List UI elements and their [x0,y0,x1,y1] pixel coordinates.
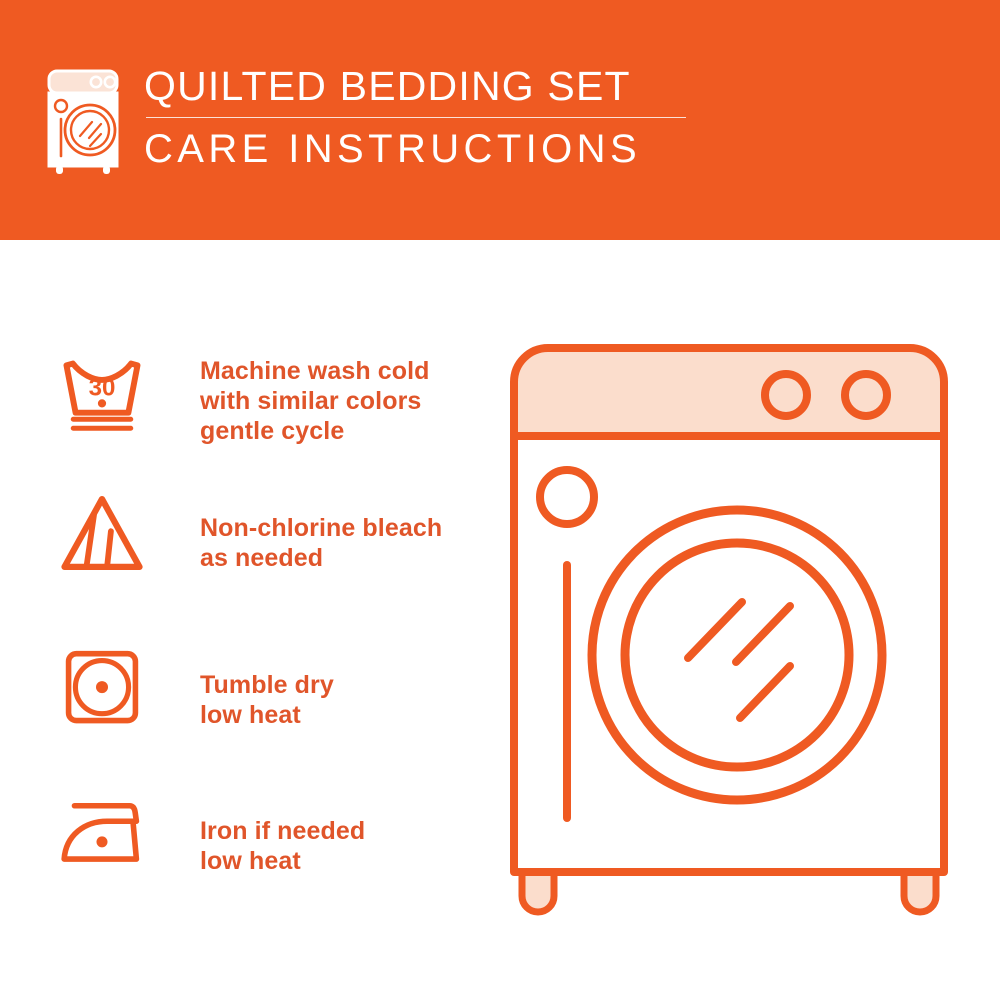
wash-temperature-label: 30 [89,374,116,401]
care-item-bleach: Non-chlorine bleach as needed [46,488,486,578]
bleach-triangle-symbol [46,488,158,578]
care-item-wash: 30 Machine wash cold with similar colors… [46,344,486,446]
care-item-bleach-text: Non-chlorine bleach as needed [200,513,442,573]
page-subtitle: CARE INSTRUCTIONS [144,127,686,171]
iron-symbol [46,792,158,878]
care-item-iron-text: Iron if needed low heat [200,816,365,876]
washing-machine-icon [44,66,122,176]
care-instruction-list: 30 Machine wash cold with similar colors… [0,240,490,1000]
care-item-iron: Iron if needed low heat [46,792,486,878]
care-item-tumble-dry: Tumble dry low heat [46,644,486,732]
washing-machine-illustration [470,320,1000,940]
header-title-block: QUILTED BEDDING SET CARE INSTRUCTIONS [144,62,686,171]
page-header: QUILTED BEDDING SET CARE INSTRUCTIONS [0,0,1000,240]
care-item-tumble-dry-text: Tumble dry low heat [200,670,334,730]
wash-tub-symbol: 30 [46,344,158,436]
tumble-dry-symbol [46,644,158,732]
page-title: QUILTED BEDDING SET [144,64,686,108]
care-item-wash-text: Machine wash cold with similar colors ge… [200,356,430,446]
title-divider [146,117,686,118]
care-instructions-page: QUILTED BEDDING SET CARE INSTRUCTIONS 30… [0,0,1000,1000]
control-panel [514,348,944,436]
header-content: QUILTED BEDDING SET CARE INSTRUCTIONS [44,62,686,176]
